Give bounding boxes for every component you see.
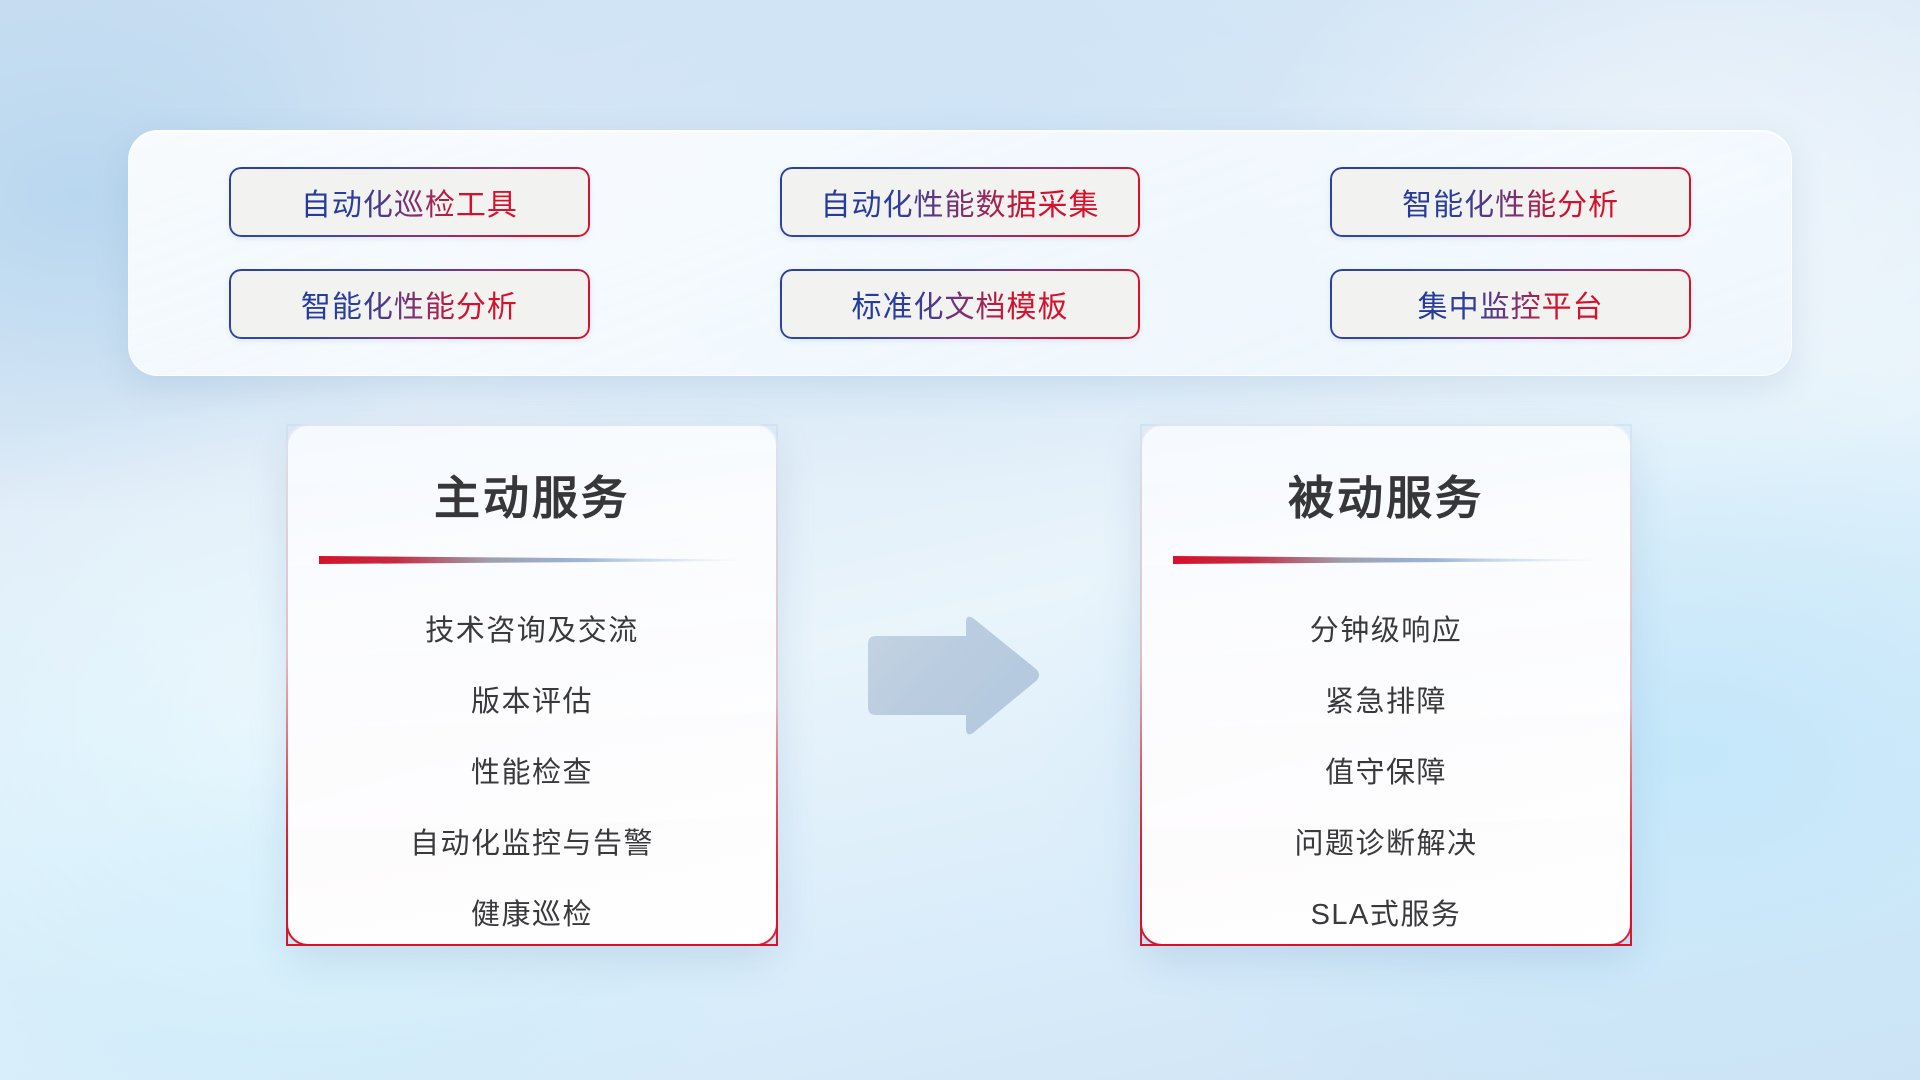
title-divider-left — [319, 554, 745, 566]
capability-pill-label: 智能化性能分析 — [301, 282, 518, 326]
capability-pill-2[interactable]: 自动化性能数据采集 — [780, 167, 1141, 237]
capability-pill-4[interactable]: 智能化性能分析 — [229, 269, 590, 339]
title-divider-right — [1173, 554, 1599, 566]
service-card-active-surface: 主动服务 技术咨询及交流 版本评估 性能检查 — [286, 424, 778, 946]
capability-pill-label: 自动化性能数据采集 — [820, 180, 1099, 224]
capability-pill-5[interactable]: 标准化文档模板 — [780, 269, 1141, 339]
capability-pill-6[interactable]: 集中监控平台 — [1330, 269, 1691, 339]
capability-pill-label: 集中监控平台 — [1418, 282, 1604, 326]
list-item: 版本评估 — [471, 667, 593, 738]
service-card-title: 被动服务 — [1142, 462, 1630, 528]
capability-pill-label: 智能化性能分析 — [1402, 180, 1619, 224]
list-item: 值守保障 — [1325, 738, 1447, 809]
capability-pill-1[interactable]: 自动化巡检工具 — [229, 167, 590, 237]
service-card-passive: 被动服务 分钟级响应 紧急排障 值守保障 — [1140, 424, 1632, 946]
list-item: 紧急排障 — [1325, 667, 1447, 738]
capability-pill-label: 标准化文档模板 — [851, 282, 1068, 326]
list-item: SLA式服务 — [1311, 880, 1462, 951]
capability-pill-3[interactable]: 智能化性能分析 — [1330, 167, 1691, 237]
list-item: 性能检查 — [471, 738, 593, 809]
service-card-title: 主动服务 — [288, 462, 776, 528]
service-card-passive-surface: 被动服务 分钟级响应 紧急排障 值守保障 — [1140, 424, 1632, 946]
list-item: 分钟级响应 — [1310, 596, 1463, 667]
capabilities-pill-grid: 自动化巡检工具 自动化性能数据采集 智能化性能分析 智能化性能分析 标准化文档模… — [229, 167, 1691, 339]
list-item: 问题诊断解决 — [1294, 809, 1477, 880]
list-item: 健康巡检 — [471, 880, 593, 951]
right-arrow-icon — [862, 614, 1042, 738]
capability-pill-label: 自动化巡检工具 — [301, 180, 518, 224]
service-card-active: 主动服务 技术咨询及交流 版本评估 性能检查 — [286, 424, 778, 946]
list-item: 自动化监控与告警 — [410, 809, 654, 880]
service-card-list: 分钟级响应 紧急排障 值守保障 问题诊断解决 SLA式服务 — [1142, 596, 1630, 951]
service-card-list: 技术咨询及交流 版本评估 性能检查 自动化监控与告警 健康巡检 — [288, 596, 776, 951]
list-item: 技术咨询及交流 — [425, 596, 639, 667]
capabilities-panel: 自动化巡检工具 自动化性能数据采集 智能化性能分析 智能化性能分析 标准化文档模… — [128, 130, 1792, 376]
